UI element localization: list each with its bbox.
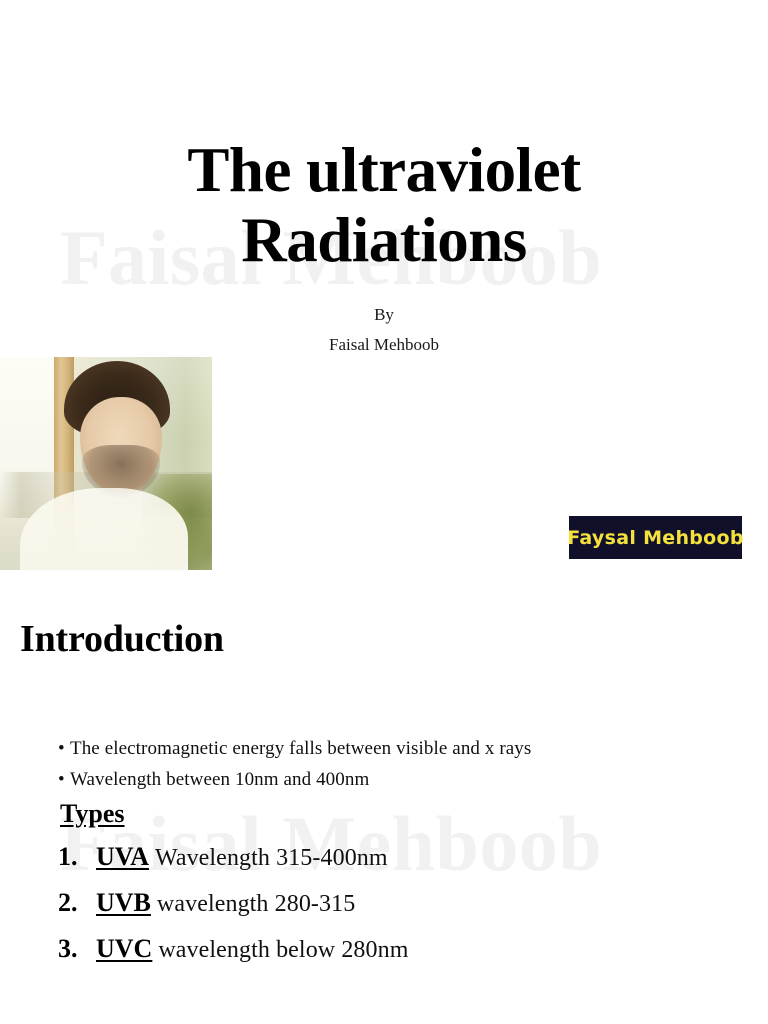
slide-canvas: Faisal Mehboob The ultraviolet Radiation… — [0, 0, 768, 1024]
page-title: The ultraviolet Radiations — [96, 136, 672, 276]
byline-label: By — [96, 306, 672, 325]
list-item-number: 3. — [58, 934, 96, 964]
photo-color-tone-overlay — [0, 357, 212, 570]
list-item-description: wavelength 280-315 — [157, 891, 355, 918]
list-item: •Wavelength between 10nm and 400nm — [58, 765, 708, 796]
section-heading-introduction: Introduction — [20, 620, 224, 660]
list-item: 2. UVB wavelength 280-315 — [58, 888, 718, 934]
list-item-code: UVB — [96, 888, 151, 918]
list-item-code: UVA — [96, 842, 149, 872]
bullet-dot-icon: • — [58, 734, 70, 765]
list-item: 1. UVA Wavelength 315-400nm — [58, 842, 718, 888]
title-line-1: The ultraviolet — [96, 136, 672, 206]
list-item-label: The electromagnetic energy falls between… — [70, 738, 531, 759]
list-item-description: Wavelength 315-400nm — [155, 845, 388, 872]
name-badge-label: Faysal Mehboob — [567, 527, 744, 549]
list-item-description: wavelength below 280nm — [158, 937, 408, 964]
title-line-2: Radiations — [96, 206, 672, 276]
types-numbered-list: 1. UVA Wavelength 315-400nm 2. UVB wavel… — [58, 842, 718, 980]
list-item: 3. UVC wavelength below 280nm — [58, 934, 718, 980]
bullet-dot-icon: • — [58, 765, 70, 796]
author-portrait-photo — [0, 357, 212, 570]
intro-bullet-list: •The electromagnetic energy falls betwee… — [58, 734, 708, 796]
photo-background — [0, 357, 212, 570]
list-item-number: 2. — [58, 888, 96, 918]
name-badge: Faysal Mehboob — [569, 516, 742, 559]
byline-author: Faisal Mehboob — [96, 336, 672, 355]
list-item-label: Wavelength between 10nm and 400nm — [70, 769, 369, 790]
list-item: •The electromagnetic energy falls betwee… — [58, 734, 708, 765]
types-subheading: Types — [60, 800, 125, 829]
list-item-number: 1. — [58, 842, 96, 872]
list-item-code: UVC — [96, 934, 152, 964]
